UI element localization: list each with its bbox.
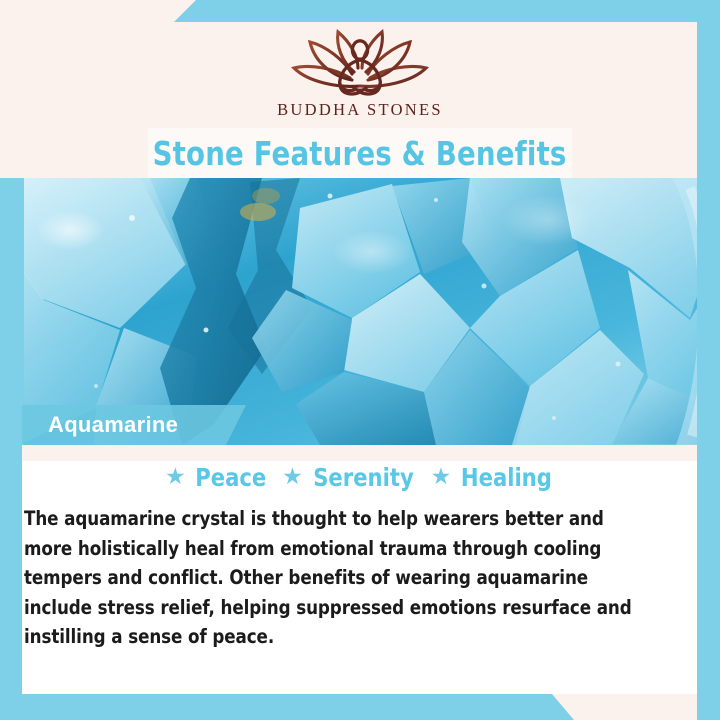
benefit-label-serenity: Serenity	[313, 463, 414, 492]
star-icon: ★	[165, 465, 186, 488]
benefit-item: ★ Serenity	[282, 463, 417, 492]
benefit-label-peace: Peace	[195, 463, 266, 492]
stone-name-tag: Aquamarine	[20, 405, 246, 445]
aquamarine-crystal-photo	[0, 178, 720, 445]
benefit-label-healing: Healing	[461, 463, 552, 492]
crystal-photo-artwork	[0, 178, 720, 445]
lotus-meditation-icon	[278, 24, 442, 96]
section-title-band: Stone Features & Benefits	[148, 128, 572, 178]
description-paragraph: The aquamarine crystal is thought to hel…	[24, 504, 656, 652]
star-icon: ★	[431, 465, 452, 488]
frame-accent-right	[697, 0, 720, 720]
page-title: Stone Features & Benefits	[153, 134, 567, 173]
star-icon: ★	[282, 465, 303, 488]
poster-canvas: BUDDHA STONES Stone Features & Benefits …	[0, 0, 720, 720]
stone-name-label: Aquamarine	[48, 412, 178, 438]
frame-accent-left	[0, 405, 22, 720]
content-card: ★ Peace ★ Serenity ★ Healing The aquamar…	[18, 461, 702, 694]
brand-logo: BUDDHA STONES	[0, 24, 720, 120]
benefit-item: ★ Healing	[431, 463, 555, 492]
benefits-row: ★ Peace ★ Serenity ★ Healing	[18, 463, 702, 492]
frame-accent-bottom	[0, 694, 720, 720]
benefit-item: ★ Peace	[165, 463, 268, 492]
brand-name: BUDDHA STONES	[277, 100, 443, 120]
